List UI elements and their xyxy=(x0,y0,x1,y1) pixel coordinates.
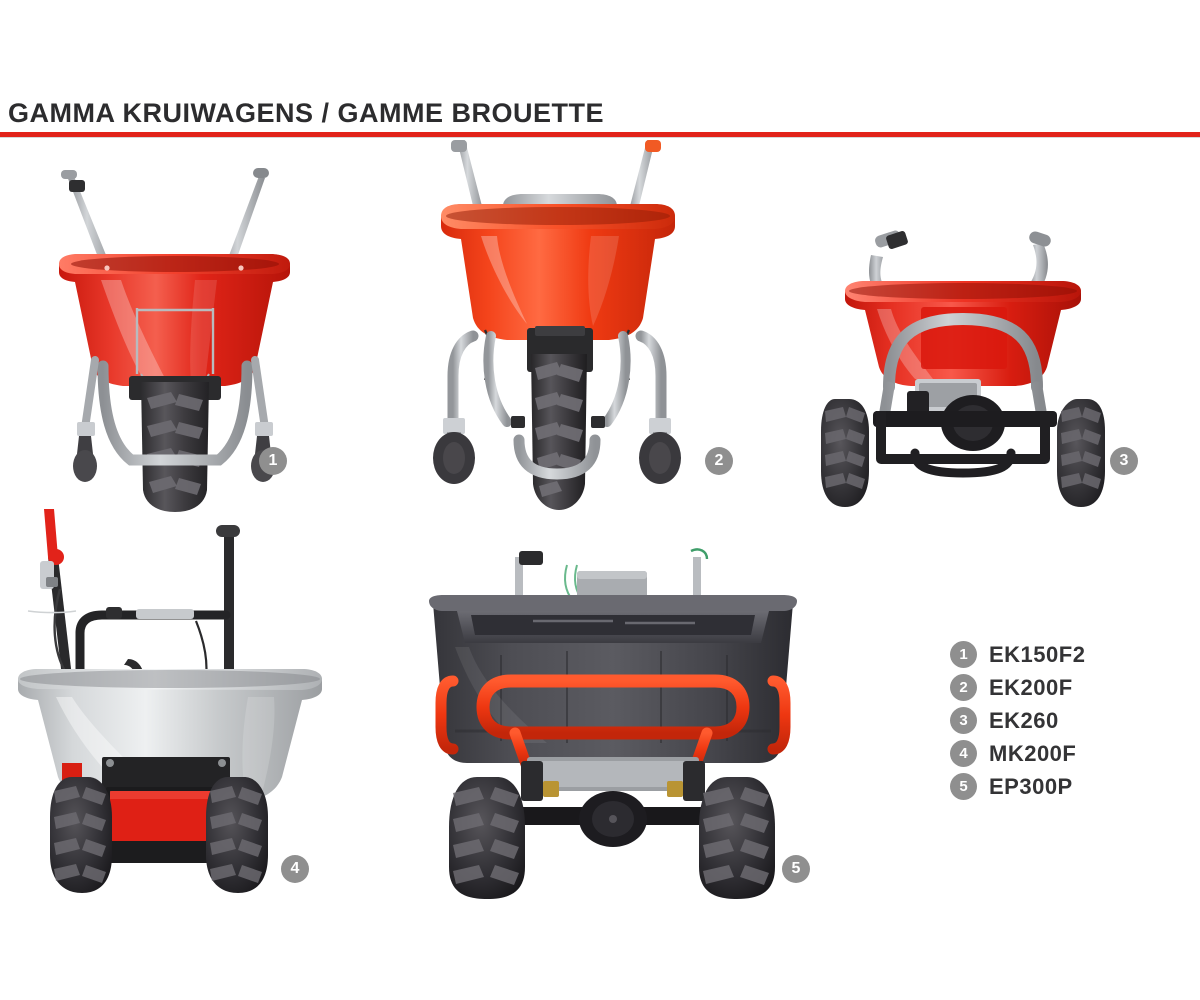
badge-3: 3 xyxy=(1110,447,1138,475)
legend-label-2: EK200F xyxy=(989,675,1073,701)
legend-badge-5: 5 xyxy=(950,773,977,800)
legend-badge-3: 3 xyxy=(950,707,977,734)
badge-2: 2 xyxy=(705,447,733,475)
title-rule-shadow xyxy=(0,137,1200,138)
badge-1: 1 xyxy=(259,447,287,475)
product-photo-3[interactable] xyxy=(815,215,1110,520)
wheelbarrow-mk200f-illustration xyxy=(10,505,330,900)
legend-item-4[interactable]: 4 MK200F xyxy=(950,737,1085,770)
legend-item-1[interactable]: 1 EK150F2 xyxy=(950,638,1085,671)
legend-item-5[interactable]: 5 EP300P xyxy=(950,770,1085,803)
legend-badge-2: 2 xyxy=(950,674,977,701)
legend-badge-1: 1 xyxy=(950,641,977,668)
legend-item-2[interactable]: 2 EK200F xyxy=(950,671,1085,704)
legend-label-1: EK150F2 xyxy=(989,642,1085,668)
badge-5: 5 xyxy=(782,855,810,883)
legend-label-5: EP300P xyxy=(989,774,1073,800)
page-title: GAMMA KRUIWAGENS / GAMME BROUETTE xyxy=(8,98,604,129)
badge-4: 4 xyxy=(281,855,309,883)
legend-badge-4: 4 xyxy=(950,740,977,767)
wheelbarrow-ek260-illustration xyxy=(815,215,1110,520)
product-photo-5[interactable] xyxy=(415,535,810,900)
product-photo-4[interactable] xyxy=(10,505,330,900)
legend-label-3: EK260 xyxy=(989,708,1059,734)
wheelbarrow-ek200f-illustration xyxy=(415,140,700,520)
wheelbarrow-ep300p-illustration xyxy=(415,535,810,900)
product-photo-2[interactable] xyxy=(415,140,700,520)
model-legend: 1 EK150F2 2 EK200F 3 EK260 4 MK200F 5 EP… xyxy=(950,638,1085,803)
legend-item-3[interactable]: 3 EK260 xyxy=(950,704,1085,737)
legend-label-4: MK200F xyxy=(989,741,1076,767)
